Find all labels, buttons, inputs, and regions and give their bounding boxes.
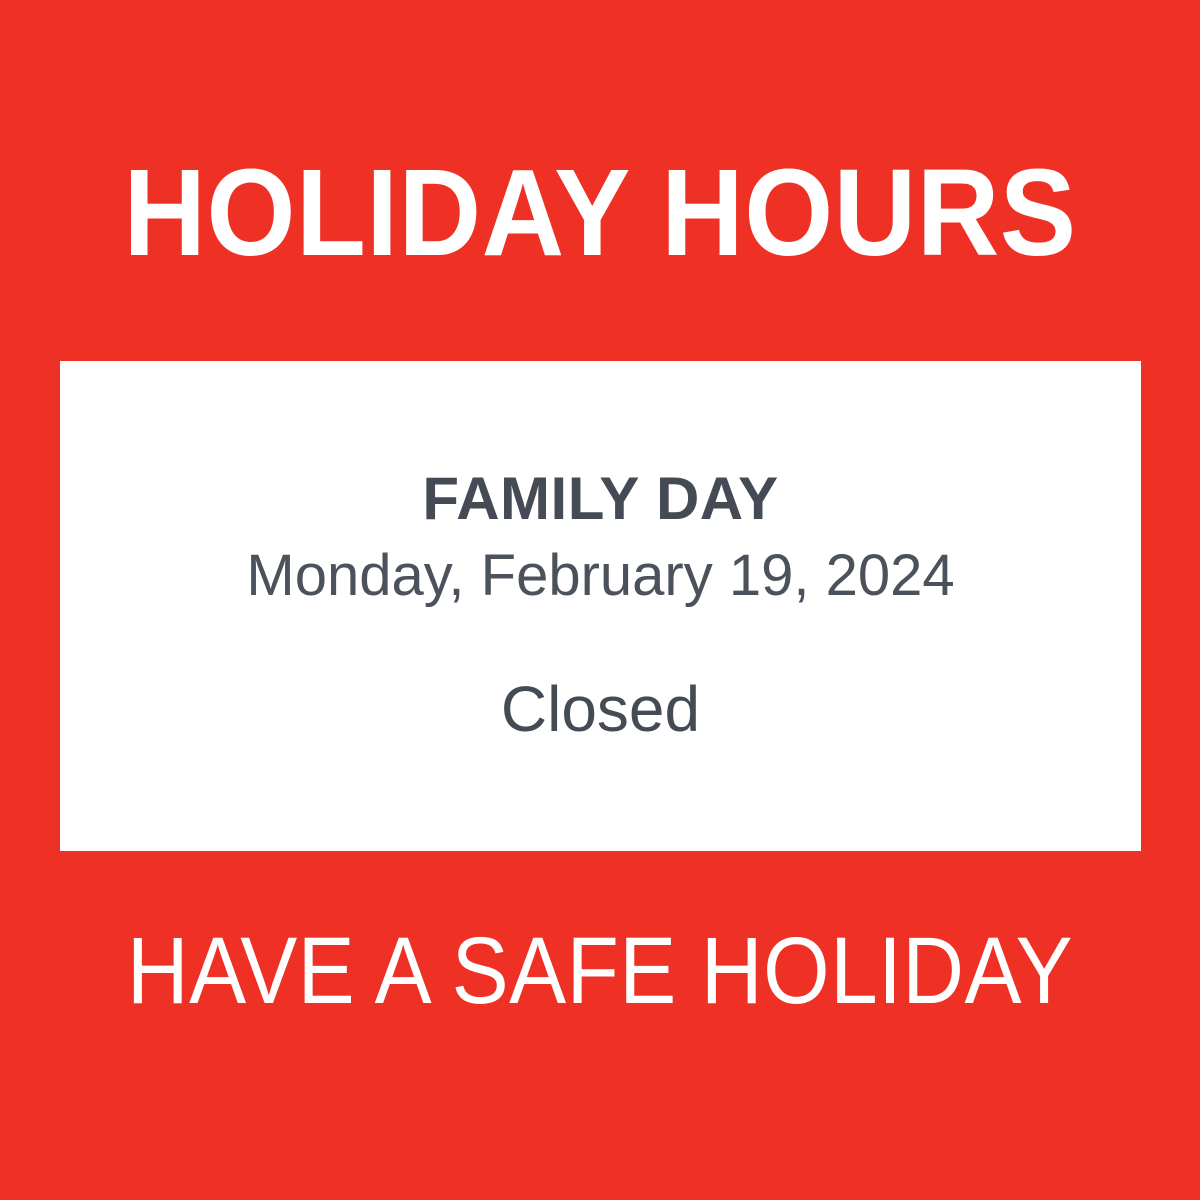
status-badge: Closed [60,671,1141,748]
holiday-name: FAMILY DAY [60,464,1141,535]
holiday-details: FAMILY DAY Monday, February 19, 2024 Clo… [60,464,1141,747]
holiday-hours-sign: HOLIDAY HOURS FAMILY DAY Monday, Februar… [0,0,1200,1200]
holiday-notice-card: FAMILY DAY Monday, February 19, 2024 Clo… [60,361,1141,851]
footer-message: HAVE A SAFE HOLIDAY [60,924,1140,1019]
page-title: HOLIDAY HOURS [42,152,1158,275]
holiday-date: Monday, February 19, 2024 [60,541,1141,611]
